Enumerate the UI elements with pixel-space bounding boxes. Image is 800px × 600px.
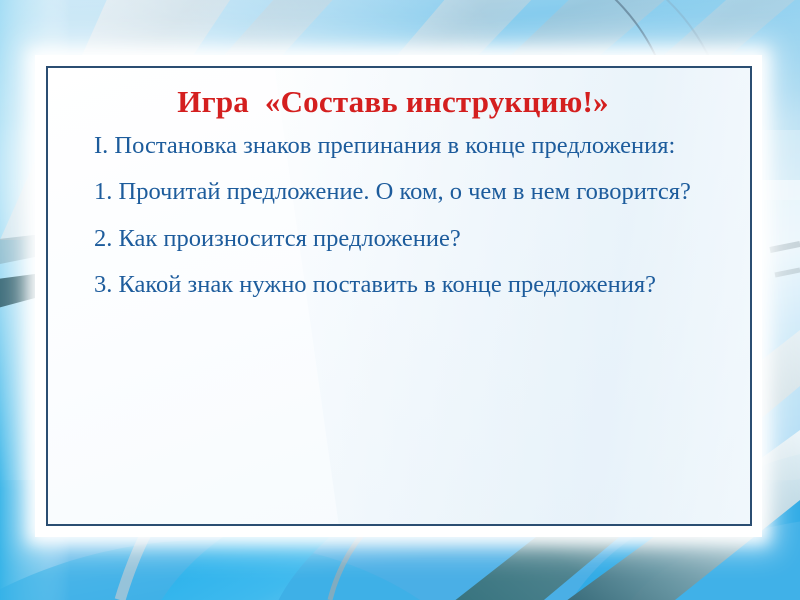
paragraph-section-heading: I. Постановка знаков препинания в конце … xyxy=(62,130,724,163)
content-panel-body: Игра «Составь инструкцию!» I. Постановка… xyxy=(48,68,750,302)
content-panel: Игра «Составь инструкцию!» I. Постановка… xyxy=(35,55,762,537)
presentation-slide: Игра «Составь инструкцию!» I. Постановка… xyxy=(0,0,800,600)
paragraph-step-3: 3. Какой знак нужно поставить в конце пр… xyxy=(62,269,724,302)
paragraph-step-2: 2. Как произносится предложение? xyxy=(62,223,724,256)
page-title: Игра «Составь инструкцию!» xyxy=(62,84,724,120)
body-text-block: I. Постановка знаков препинания в конце … xyxy=(62,130,724,302)
paragraph-step-1: 1. Прочитай предложение. О ком, о чем в … xyxy=(62,176,724,209)
content-panel-border: Игра «Составь инструкцию!» I. Постановка… xyxy=(46,66,752,526)
